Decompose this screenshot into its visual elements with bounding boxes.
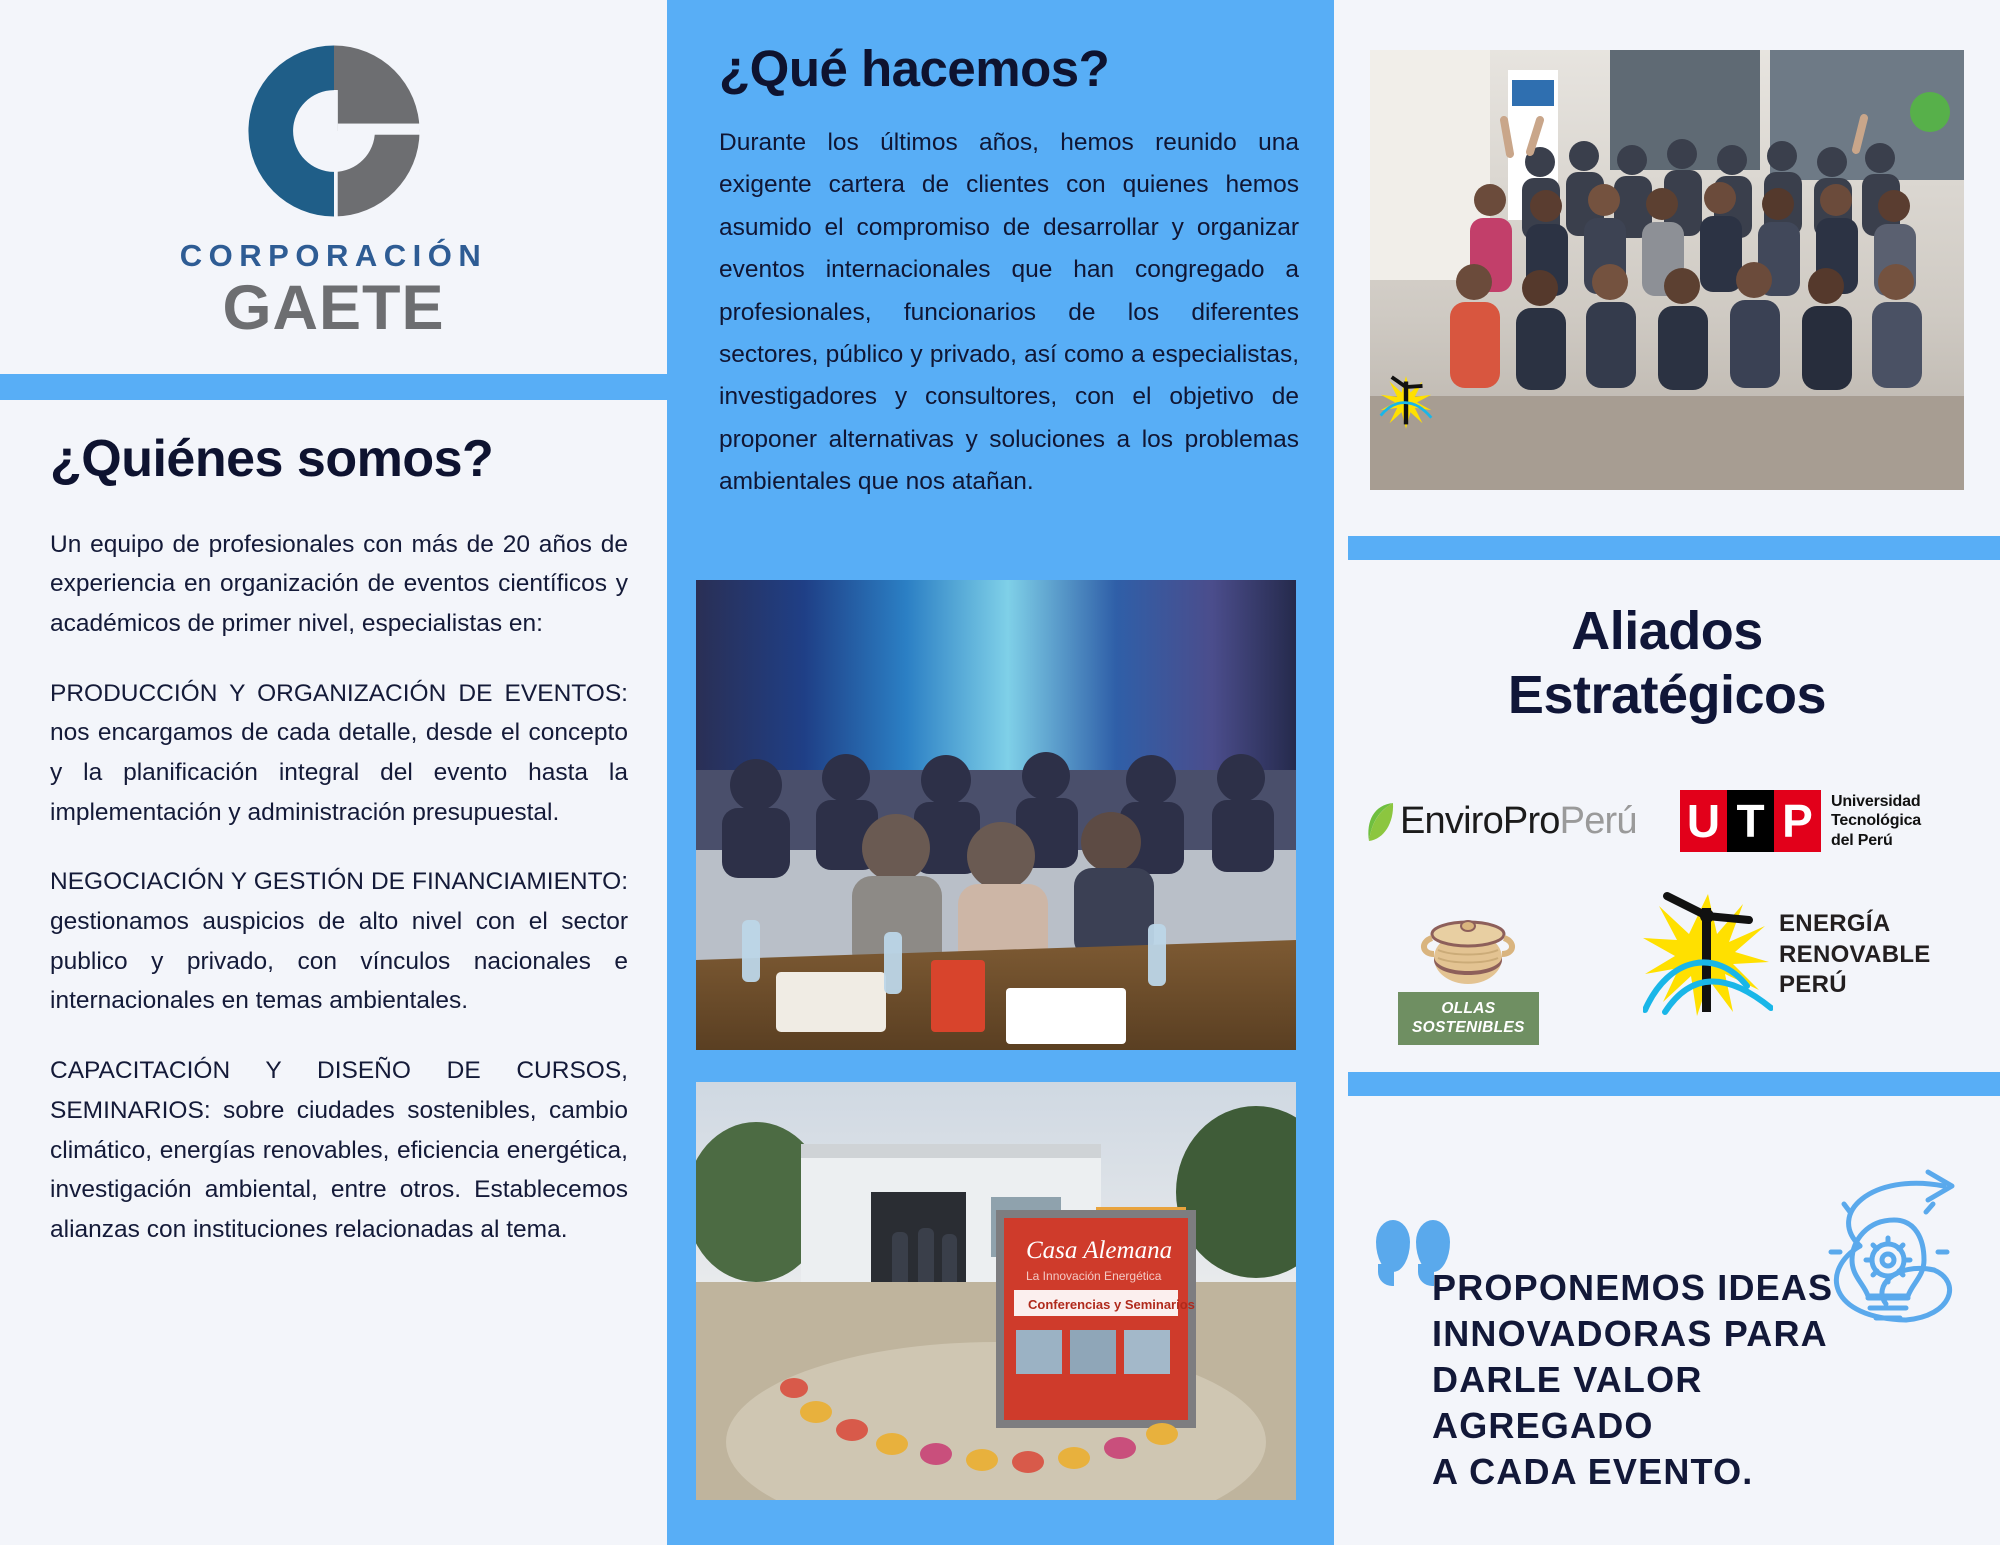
ollas-label-line2: SOSTENIBLES <box>1412 1018 1525 1037</box>
ollas-sostenibles-badge: OLLAS SOSTENIBLES <box>1398 992 1539 1045</box>
ally-logo-ollas-sostenibles[interactable]: OLLAS SOSTENIBLES <box>1398 908 1539 1045</box>
enviropro-name-part1: EnviroPro <box>1400 800 1560 843</box>
casa-alemana-sign-photo: Casa Alemana La Innovación Energética Co… <box>696 1082 1296 1500</box>
energia-line1: ENERGÍA <box>1779 909 1931 940</box>
utp-subtitle-line2: Tecnológica <box>1831 811 1921 830</box>
energia-line2: RENOVABLE <box>1779 940 1931 971</box>
heading-aliados-estrategicos: Aliados Estratégicos <box>1334 600 2000 727</box>
paragraph-que-hacemos: Durante los últimos años, hemos reunido … <box>719 122 1299 503</box>
energia-renovable-text: ENERGÍA RENOVABLE PERÚ <box>1779 909 1931 1001</box>
left-column: CORPORACIÓN GAETE ¿Quiénes somos? Un equ… <box>0 0 667 1545</box>
aliados-line-2: Estratégicos <box>1334 664 2000 728</box>
heading-quienes-somos: ¿Quiénes somos? <box>50 432 628 487</box>
leaf-icon <box>1366 801 1396 843</box>
divider-rule-left <box>0 374 667 400</box>
gaete-g-logo-icon <box>241 38 427 224</box>
allies-logo-grid: EnviroPro Perú U T P Universidad Tecnoló… <box>1358 790 1978 1060</box>
ollas-label-line1: OLLAS <box>1412 999 1525 1018</box>
energia-line3: PERÚ <box>1779 970 1931 1001</box>
utp-subtitle: Universidad Tecnológica del Perú <box>1831 792 1921 850</box>
tagline-text: PROPONEMOS IDEAS INNOVADORAS PARA DARLE … <box>1432 1265 1932 1495</box>
wind-turbine-sun-icon <box>1643 890 1773 1020</box>
ally-logo-energia-renovable-peru[interactable]: ENERGÍA RENOVABLE PERÚ <box>1643 890 1931 1020</box>
utp-subtitle-line1: Universidad <box>1831 792 1921 811</box>
tagline-line-3: DARLE VALOR AGREGADO <box>1432 1357 1932 1449</box>
ally-logo-utp[interactable]: U T P Universidad Tecnológica del Perú <box>1680 790 1921 852</box>
company-logo: CORPORACIÓN GAETE <box>0 0 667 374</box>
group-photo <box>1370 50 1964 490</box>
utp-letter-p: P <box>1774 790 1821 852</box>
tagline-line-4: A CADA EVENTO. <box>1432 1449 1932 1495</box>
aliados-line-1: Aliados <box>1334 600 2000 664</box>
tagline-line-1: PROPONEMOS IDEAS <box>1432 1265 1932 1311</box>
heading-que-hacemos: ¿Qué hacemos? <box>719 42 1299 96</box>
tagline-quote-block: PROPONEMOS IDEAS INNOVADORAS PARA DARLE … <box>1334 1130 2000 1490</box>
left-column-content: ¿Quiénes somos? Un equipo de profesional… <box>50 432 628 1250</box>
ally-logo-enviropro-peru[interactable]: EnviroPro Perú <box>1366 800 1637 843</box>
divider-rule-right-top <box>1348 536 2000 560</box>
svg-text:Casa Alemana: Casa Alemana <box>1026 1237 1172 1264</box>
enviropro-name-part2: Perú <box>1560 800 1637 843</box>
paragraph-produccion-eventos: PRODUCCIÓN Y ORGANIZACIÓN DE EVENTOS: no… <box>50 674 628 833</box>
conference-room-photo <box>696 580 1296 1050</box>
paragraph-capacitacion-cursos: CAPACITACIÓN Y DISEÑO DE CURSOS, SEMINAR… <box>50 1051 628 1249</box>
tagline-line-2: INNOVADORAS PARA <box>1432 1311 1932 1357</box>
middle-column: ¿Qué hacemos? Durante los últimos años, … <box>667 0 1334 1545</box>
right-column: Aliados Estratégicos EnviroPro Perú U <box>1334 0 2000 1545</box>
utp-letter-u: U <box>1680 790 1727 852</box>
logo-word-corporacion: CORPORACIÓN <box>180 240 487 271</box>
paragraph-equipo: Un equipo de profesionales con más de 20… <box>50 525 628 644</box>
clay-pot-icon <box>1418 908 1518 986</box>
utp-wordmark: U T P <box>1680 790 1821 852</box>
divider-rule-right-bottom <box>1348 1072 2000 1096</box>
paragraph-negociacion-financiamiento: NEGOCIACIÓN Y GESTIÓN DE FINANCIAMIENTO:… <box>50 862 628 1021</box>
svg-text:La Innovación Energética: La Innovación Energética <box>1026 1269 1162 1283</box>
utp-subtitle-line3: del Perú <box>1831 831 1921 850</box>
logo-word-gaete: GAETE <box>222 277 444 340</box>
svg-text:Conferencias y Seminarios: Conferencias y Seminarios <box>1028 1297 1195 1312</box>
utp-letter-t: T <box>1727 790 1774 852</box>
brochure-page: CORPORACIÓN GAETE ¿Quiénes somos? Un equ… <box>0 0 2000 1545</box>
